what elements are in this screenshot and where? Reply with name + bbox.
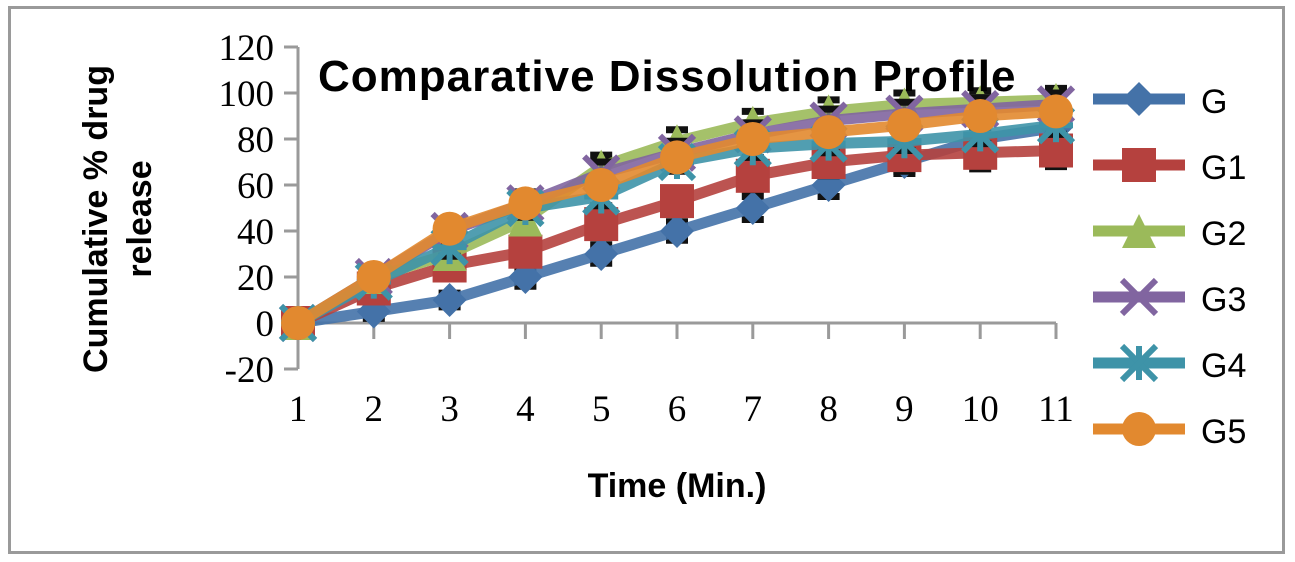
- y-axis-tick-label: 40: [237, 212, 274, 253]
- data-point-circle: [1039, 94, 1073, 128]
- x-axis-tick-label: 9: [895, 389, 914, 430]
- data-point-square: [1122, 148, 1156, 182]
- chart-title: Comparative Dissolution Profile: [318, 52, 1016, 101]
- legend-item-G2[interactable]: G2: [1093, 214, 1246, 253]
- y-axis-tick-label: 100: [219, 74, 275, 115]
- x-axis-tick-label: 3: [440, 389, 459, 430]
- x-axis-tick-label: 2: [365, 389, 384, 430]
- legend-item-G5[interactable]: G5: [1093, 412, 1246, 451]
- legend-label-G1: G1: [1201, 149, 1246, 187]
- x-axis-tick-label: 6: [668, 389, 687, 430]
- legend-item-G4[interactable]: G4: [1093, 346, 1246, 385]
- data-point-square: [508, 235, 542, 269]
- x-axis-tick-label: 7: [744, 389, 763, 430]
- data-point-circle: [357, 260, 391, 294]
- data-point-circle: [508, 186, 542, 220]
- data-point-circle: [584, 168, 618, 202]
- legend-label-G2: G2: [1201, 215, 1246, 253]
- data-point-diamond: [660, 214, 694, 248]
- data-point-diamond: [433, 283, 467, 317]
- y-axis-title-line1: Cumulative % drug: [77, 65, 115, 373]
- legend-label-G5: G5: [1201, 413, 1246, 451]
- x-axis: 1234567891011: [289, 323, 1074, 430]
- y-axis-tick-label: 0: [256, 304, 275, 345]
- legend-item-G[interactable]: G: [1093, 82, 1227, 121]
- y-axis-title-line2: release: [121, 160, 159, 277]
- chart-frame: 120100806040200-201234567891011Comparati…: [8, 6, 1285, 554]
- data-point-diamond: [736, 191, 770, 225]
- x-axis-tick-label: 5: [592, 389, 611, 430]
- legend-item-G3[interactable]: G3: [1093, 280, 1246, 319]
- data-point-circle: [660, 140, 694, 174]
- x-axis-title: Time (Min.): [588, 467, 767, 505]
- data-point-circle: [281, 306, 315, 340]
- legend-label-G3: G3: [1201, 281, 1246, 319]
- data-point-square: [660, 184, 694, 218]
- data-point-asterisk: [1122, 346, 1156, 380]
- data-point-circle: [812, 115, 846, 149]
- legend-item-G1[interactable]: G1: [1093, 148, 1246, 187]
- x-axis-tick-label: 4: [516, 389, 535, 430]
- y-axis-title: Cumulative % drugrelease: [77, 65, 159, 373]
- legend-label-G4: G4: [1201, 347, 1246, 385]
- data-point-diamond: [1122, 82, 1156, 116]
- y-axis-tick-label: 120: [219, 28, 275, 69]
- data-point-circle: [1122, 412, 1156, 446]
- y-axis-tick-label: 80: [237, 120, 274, 161]
- x-axis-tick-label: 8: [819, 389, 838, 430]
- chart-svg: 120100806040200-201234567891011Comparati…: [11, 9, 1282, 551]
- data-point-circle: [887, 108, 921, 142]
- comparative-dissolution-profile-chart: 120100806040200-201234567891011Comparati…: [11, 9, 1282, 551]
- y-axis-tick-label: -20: [225, 350, 274, 391]
- legend-label-G: G: [1201, 83, 1227, 121]
- data-point-circle: [433, 212, 467, 246]
- y-axis-tick-label: 20: [237, 258, 274, 299]
- data-point-diamond: [584, 237, 618, 271]
- y-axis-tick-label: 60: [237, 166, 274, 207]
- x-axis-tick-label: 1: [289, 389, 308, 430]
- x-axis-tick-label: 10: [962, 389, 999, 430]
- data-point-circle: [736, 122, 770, 156]
- x-axis-tick-label: 11: [1038, 389, 1074, 430]
- data-point-circle: [963, 99, 997, 133]
